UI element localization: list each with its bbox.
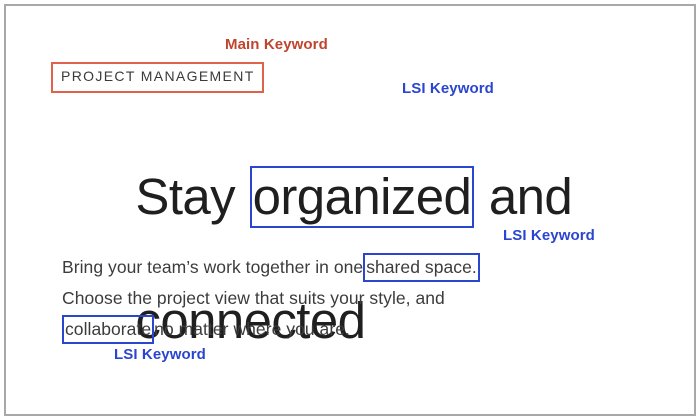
main-keyword-box: PROJECT MANAGEMENT: [51, 62, 264, 93]
callout-lsi-keyword-body-bottom: LSI Keyword: [114, 347, 206, 362]
body-line-2-text: Choose the project view that suits your …: [62, 288, 445, 308]
callout-lsi-keyword-headline: LSI Keyword: [402, 81, 494, 96]
callout-lsi-keyword-body-top: LSI Keyword: [503, 228, 595, 243]
body-line-2: Choose the project view that suits your …: [62, 283, 602, 314]
body-copy: Bring your team’s work together in onesh…: [62, 252, 602, 345]
lsi-keyword-box-headline: organized: [250, 166, 475, 228]
headline-text-after: and: [475, 168, 572, 225]
lsi-keyword-box-collaborate: collaborate: [62, 315, 154, 344]
body-line-3: collaborateno matter where you are.: [62, 314, 602, 345]
lsi-keyword-box-shared-space: shared space.: [363, 253, 480, 282]
eyebrow-text: PROJECT MANAGEMENT: [61, 68, 255, 84]
body-line-3-text: no matter where you are.: [154, 319, 350, 339]
headline-text-before: Stay: [135, 168, 248, 225]
body-line-1: Bring your team’s work together in onesh…: [62, 252, 602, 283]
callout-main-keyword: Main Keyword: [225, 37, 328, 52]
screenshot-root: Main Keyword PROJECT MANAGEMENT LSI Keyw…: [0, 0, 700, 420]
page-frame: Main Keyword PROJECT MANAGEMENT LSI Keyw…: [4, 4, 696, 416]
body-line-1-text: Bring your team’s work together in one: [62, 257, 363, 277]
